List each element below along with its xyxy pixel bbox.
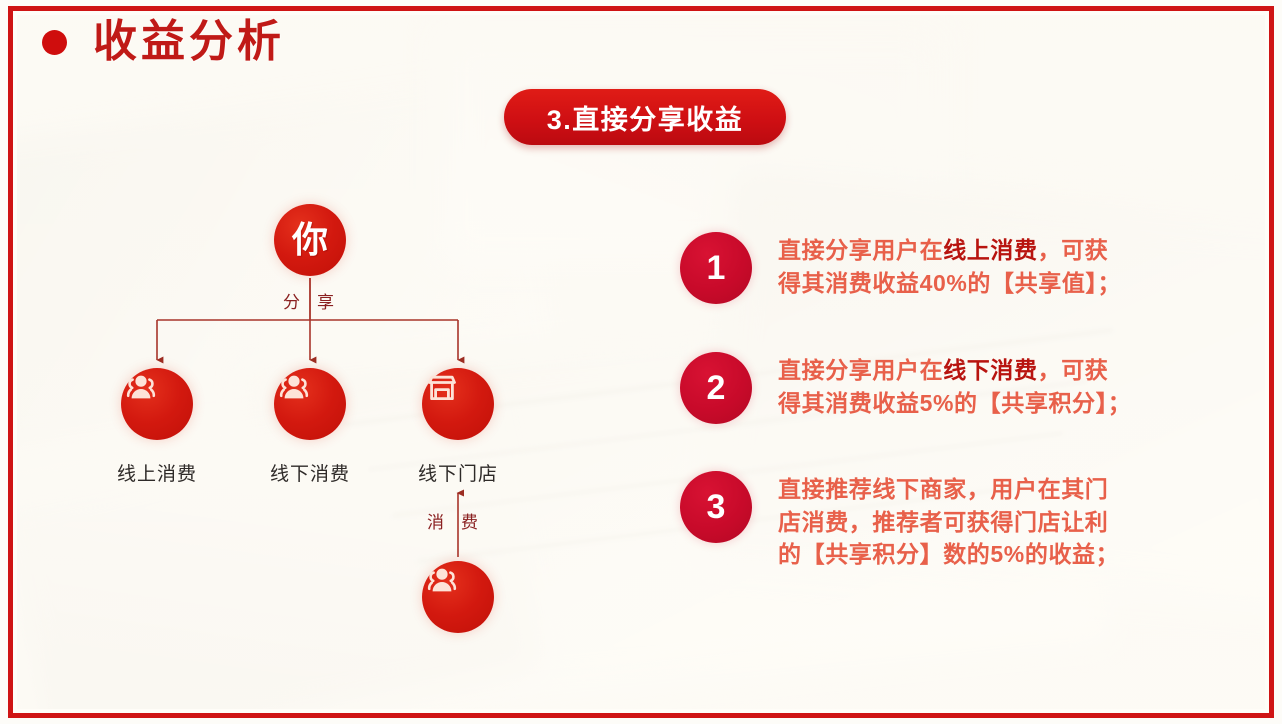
point-line1-emphasis: 线下消费: [943, 357, 1037, 383]
point-text: 直接分享用户在线下消费，可获 得其消费收益5%的【共享积分】；: [778, 352, 1131, 419]
point-line1-post: ，可获: [1038, 357, 1109, 383]
group-people-icon: [422, 561, 462, 601]
node-you[interactable]: 你: [274, 204, 346, 276]
point-text: 直接推荐线下商家，用户在其门 店消费，推荐者可获得门店让利 的【共享积分】数的5…: [778, 471, 1119, 571]
page-title: 收益分析: [93, 20, 285, 64]
node-label-online-consumption: 线上消费: [113, 459, 201, 486]
node-online-consumption[interactable]: [121, 368, 193, 440]
section-badge: 3.直接分享收益: [504, 89, 786, 145]
point-line2: 得其消费收益5%的【共享积分】；: [778, 390, 1131, 416]
point-text: 直接分享用户在线上消费，可获 得其消费收益40%的【共享值】；: [778, 232, 1121, 299]
list-item: 3 直接推荐线下商家，用户在其门 店消费，推荐者可获得门店让利 的【共享积分】数…: [680, 471, 1210, 571]
node-store-customers[interactable]: [422, 561, 494, 633]
point-line1-emphasis: 线上消费: [943, 237, 1037, 263]
status-badge: 3: [680, 471, 752, 543]
edge-label-consume-right: 费: [461, 508, 479, 533]
points-list: 1 直接分享用户在线上消费，可获 得其消费收益40%的【共享值】； 2 直接分享…: [680, 232, 1210, 571]
node-you-label: 你: [292, 222, 328, 258]
point-line1-pre: 直接分享用户在: [778, 357, 943, 383]
list-item: 2 直接分享用户在线下消费，可获 得其消费收益5%的【共享积分】；: [680, 352, 1210, 424]
group-people-icon: [274, 368, 314, 408]
group-people-icon: [121, 368, 161, 408]
node-label-offline-store: 线下门店: [414, 459, 502, 486]
edge-label-share-right: 享: [317, 288, 335, 313]
dot-bullet-icon: [42, 30, 67, 55]
point-line2: 店消费，推荐者可获得门店让利: [778, 509, 1108, 535]
page-title-row: 收益分析: [42, 20, 285, 64]
point-line1-pre: 直接分享用户在: [778, 237, 943, 263]
point-line1-pre: 直接推荐线下商家，用户在其门: [778, 476, 1108, 502]
node-offline-store[interactable]: [422, 368, 494, 440]
status-badge: 2: [680, 352, 752, 424]
status-badge: 1: [680, 232, 752, 304]
point-line2: 得其消费收益40%的【共享值】；: [778, 270, 1121, 296]
point-line3: 的【共享积分】数的5%的收益；: [778, 541, 1119, 567]
edge-label-consume-left: 消: [427, 508, 445, 533]
node-offline-consumption[interactable]: [274, 368, 346, 440]
section-badge-label: 3.直接分享收益: [547, 98, 744, 137]
edge-label-share-left: 分: [283, 288, 301, 313]
storefront-icon: [422, 368, 462, 408]
list-item: 1 直接分享用户在线上消费，可获 得其消费收益40%的【共享值】；: [680, 232, 1210, 304]
node-label-offline-consumption: 线下消费: [266, 459, 354, 486]
slide-canvas: 收益分析 3.直接分享收益: [0, 0, 1282, 724]
point-line1-post: ，可获: [1038, 237, 1109, 263]
